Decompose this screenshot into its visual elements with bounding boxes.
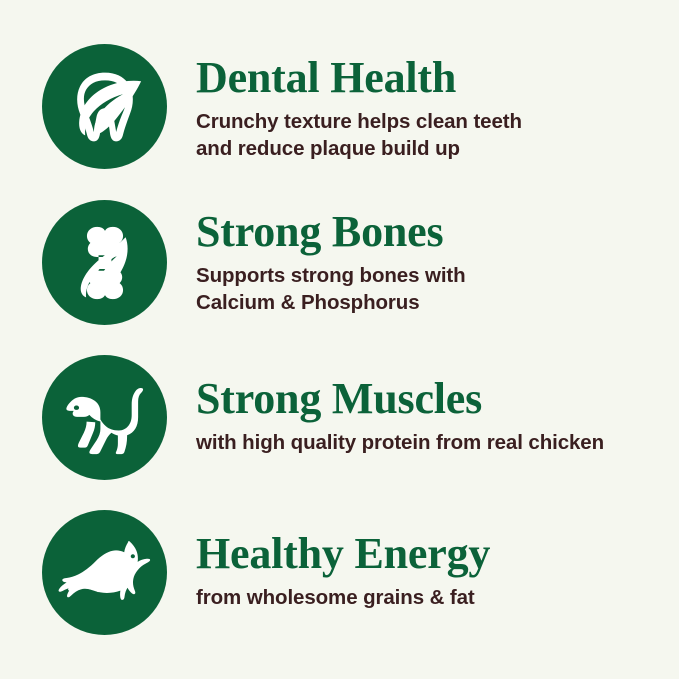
leaping-dog-icon: [57, 525, 153, 621]
benefit-description: from wholesome grains & fat: [196, 585, 667, 612]
benefit-title: Dental Health: [196, 56, 667, 100]
description-line: with high quality protein from real chic…: [196, 430, 667, 457]
benefit-row: Dental Health Crunchy texture helps clea…: [0, 44, 679, 169]
benefit-text: Strong Muscles with high quality protein…: [167, 355, 679, 457]
benefit-row: Strong Muscles with high quality protein…: [0, 355, 679, 480]
standing-dog-icon: [59, 372, 151, 464]
description-line: Calcium & Phosphorus: [196, 290, 667, 317]
benefit-description: with high quality protein from real chic…: [196, 430, 667, 457]
description-line: Supports strong bones with: [196, 263, 667, 290]
benefit-row: Healthy Energy from wholesome grains & f…: [0, 510, 679, 635]
benefits-panel: Dental Health Crunchy texture helps clea…: [0, 0, 679, 679]
tooth-leaf-icon-badge: [42, 44, 167, 169]
benefit-text: Strong Bones Supports strong bones with …: [167, 200, 679, 316]
description-line: from wholesome grains & fat: [196, 585, 667, 612]
standing-dog-icon-badge: [42, 355, 167, 480]
benefit-title: Healthy Energy: [196, 532, 667, 576]
benefit-text: Dental Health Crunchy texture helps clea…: [167, 44, 679, 162]
description-line: Crunchy texture helps clean teeth: [196, 109, 667, 136]
tooth-leaf-icon: [62, 64, 148, 150]
benefit-description: Supports strong bones with Calcium & Pho…: [196, 263, 667, 316]
bone-leaf-icon: [62, 220, 148, 306]
benefit-row: Strong Bones Supports strong bones with …: [0, 200, 679, 325]
benefit-title: Strong Muscles: [196, 377, 667, 421]
benefit-description: Crunchy texture helps clean teeth and re…: [196, 109, 667, 162]
benefit-title: Strong Bones: [196, 210, 667, 254]
benefit-text: Healthy Energy from wholesome grains & f…: [167, 510, 679, 612]
leaping-dog-icon-badge: [42, 510, 167, 635]
description-line: and reduce plaque build up: [196, 136, 667, 163]
bone-leaf-icon-badge: [42, 200, 167, 325]
